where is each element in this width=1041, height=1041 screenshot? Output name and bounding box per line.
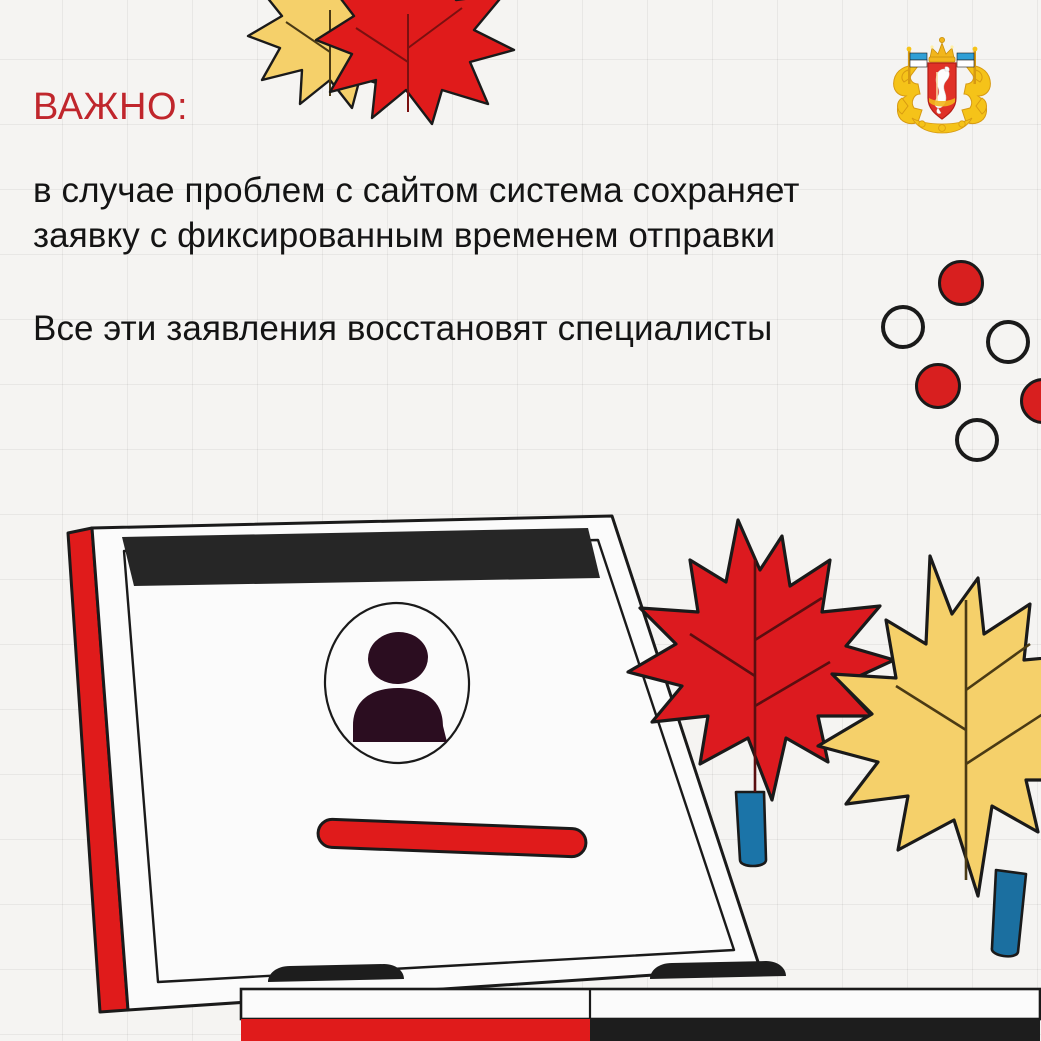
dot-red-3 [1020, 378, 1041, 424]
laptop-base-accent-red [241, 1019, 590, 1041]
emblem-flag-right [957, 47, 977, 84]
bottom-leaves-group [0, 0, 1041, 1041]
emblem-crown [929, 37, 955, 62]
emblem-supporter-right [962, 66, 990, 124]
poster-canvas: ВАЖНО: в случае проблем с сайтом система… [0, 0, 1041, 1041]
paragraph-1: в случае проблем с сайтом система сохран… [33, 168, 823, 258]
laptop-base-accent-dark [590, 1019, 1040, 1041]
laptop-lid-edge [68, 528, 128, 1012]
emblem-supporter-left [894, 66, 922, 124]
background-grid [0, 0, 1041, 1041]
maple-leaf-yellow-top [248, 0, 424, 108]
dot-hollow-3 [955, 418, 999, 462]
laptop-login-illustration [0, 0, 1041, 1041]
user-avatar-silhouette [353, 629, 447, 742]
login-button-bar [318, 819, 587, 857]
paragraph-2: Все эти заявления восстановят специалист… [33, 306, 823, 351]
page-headline: ВАЖНО: [33, 88, 188, 126]
emblem-flag-left [907, 47, 927, 84]
coat-of-arms-sverdlovsk-oblast [888, 36, 996, 136]
laptop-lid-outer [92, 516, 760, 1010]
maple-leaf-red-large [628, 520, 894, 866]
emblem-shield [928, 63, 956, 119]
laptop-base-top [241, 989, 1040, 1019]
maple-leaf-red-large-stem [736, 792, 766, 866]
dot-red-1 [938, 260, 984, 306]
body-copy: в случае проблем с сайтом система сохран… [33, 168, 823, 351]
emblem-ribbon [912, 118, 972, 133]
user-avatar-ring [321, 599, 473, 766]
maple-leaf-yellow-large-stem [992, 870, 1026, 956]
dot-hollow-2 [986, 320, 1030, 364]
screen-header-bar [122, 528, 600, 586]
dot-hollow-1 [881, 305, 925, 349]
top-leaves-group [0, 0, 1041, 1041]
dot-red-2 [915, 363, 961, 409]
laptop-screen-panel [124, 540, 734, 982]
laptop-hinge-group [268, 961, 786, 982]
maple-leaf-yellow-large [818, 556, 1041, 956]
maple-leaf-red-top [316, 0, 514, 124]
